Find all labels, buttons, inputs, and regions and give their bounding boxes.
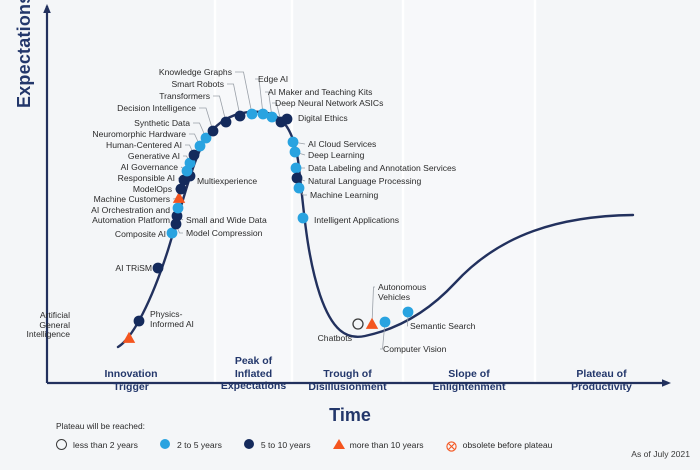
phase-label: Plateau ofProductivity bbox=[542, 368, 662, 393]
legend-item[interactable]: more than 10 years bbox=[333, 439, 424, 450]
technology-label: AI Maker and Teaching Kits bbox=[268, 88, 372, 98]
data-point-marker[interactable] bbox=[134, 316, 145, 327]
legend-item-label: 5 to 10 years bbox=[261, 440, 311, 450]
data-point-marker[interactable] bbox=[235, 111, 246, 122]
legend-item-label: less than 2 years bbox=[73, 440, 138, 450]
as-of-date: As of July 2021 bbox=[631, 449, 690, 459]
technology-label: Decision Intelligence bbox=[117, 104, 196, 114]
technology-label: AI TRiSM bbox=[115, 264, 152, 274]
open-circle-icon bbox=[56, 439, 67, 450]
technology-label: Machine Learning bbox=[310, 191, 378, 201]
data-point-marker[interactable] bbox=[380, 317, 391, 328]
phase-band bbox=[535, 0, 668, 383]
data-point-marker[interactable] bbox=[153, 263, 164, 274]
legend-item-label: more than 10 years bbox=[350, 440, 424, 450]
technology-label: Data Labeling and Annotation Services bbox=[308, 164, 456, 174]
data-point-marker[interactable] bbox=[298, 213, 309, 224]
technology-label: Generative AI bbox=[128, 152, 180, 162]
data-point-marker[interactable] bbox=[288, 137, 299, 148]
technology-label: Computer Vision bbox=[383, 345, 446, 355]
technology-label: AI Cloud Services bbox=[308, 140, 376, 150]
technology-label: Composite AI bbox=[115, 230, 166, 240]
technology-label: Multiexperience bbox=[197, 177, 257, 187]
phase-band bbox=[215, 0, 292, 383]
technology-label: Machine Customers bbox=[94, 195, 170, 205]
filled-circle-icon bbox=[160, 439, 171, 450]
data-point-marker[interactable] bbox=[291, 163, 302, 174]
technology-label: Knowledge Graphs bbox=[159, 68, 232, 78]
data-point-marker[interactable] bbox=[290, 147, 301, 158]
technology-label: Edge AI bbox=[258, 75, 288, 85]
data-point-marker[interactable] bbox=[353, 319, 363, 329]
y-axis-title: Expectations bbox=[14, 0, 35, 108]
data-point-marker[interactable] bbox=[282, 114, 293, 125]
data-point-marker[interactable] bbox=[403, 307, 414, 318]
phase-label: InnovationTrigger bbox=[71, 368, 191, 393]
technology-label: ModelOps bbox=[133, 185, 172, 195]
data-point-marker[interactable] bbox=[247, 109, 258, 120]
technology-label: Physics- Informed AI bbox=[150, 310, 194, 329]
technology-label: Responsible AI bbox=[118, 174, 175, 184]
data-point-marker[interactable] bbox=[292, 173, 303, 184]
data-point-marker[interactable] bbox=[189, 150, 200, 161]
technology-label: Digital Ethics bbox=[298, 114, 348, 124]
hype-cycle-chart: Artificial General IntelligencePhysics- … bbox=[0, 0, 700, 470]
technology-label: Chatbots bbox=[318, 334, 352, 344]
data-point-marker[interactable] bbox=[221, 117, 232, 128]
data-point-marker[interactable] bbox=[294, 183, 305, 194]
data-point-marker[interactable] bbox=[208, 126, 219, 137]
obsolete-icon bbox=[446, 439, 457, 450]
legend-item[interactable]: 5 to 10 years bbox=[244, 439, 311, 450]
legend-item-label: obsolete before plateau bbox=[463, 440, 553, 450]
data-point-marker[interactable] bbox=[173, 203, 184, 214]
technology-label: Intelligent Applications bbox=[314, 216, 399, 226]
technology-label: Neuromorphic Hardware bbox=[92, 130, 186, 140]
technology-label: Semantic Search bbox=[410, 322, 475, 332]
legend-item-label: 2 to 5 years bbox=[177, 440, 222, 450]
technology-label: Artificial General Intelligence bbox=[27, 311, 70, 340]
legend-item[interactable]: obsolete before plateau bbox=[446, 439, 553, 450]
technology-label: Natural Language Processing bbox=[308, 177, 421, 187]
technology-label: Deep Learning bbox=[308, 151, 364, 161]
technology-label: Model Compression bbox=[186, 229, 262, 239]
technology-label: Human-Centered AI bbox=[106, 141, 182, 151]
technology-label: Synthetic Data bbox=[134, 119, 190, 129]
chart-plot-area: Artificial General IntelligencePhysics- … bbox=[0, 0, 700, 470]
technology-label: Transformers bbox=[159, 92, 210, 102]
phase-label: Trough ofDisillusionment bbox=[288, 368, 408, 393]
filled-circle-icon bbox=[244, 439, 255, 450]
legend-items: less than 2 years2 to 5 years5 to 10 yea… bbox=[56, 439, 696, 450]
legend-title: Plateau will be reached: bbox=[56, 421, 696, 431]
technology-label: Smart Robots bbox=[171, 80, 224, 90]
technology-label: AI Orchestration and Automation Platform bbox=[91, 206, 170, 225]
technology-label: Small and Wide Data bbox=[186, 216, 267, 226]
chart-legend: Plateau will be reached: less than 2 yea… bbox=[56, 421, 696, 450]
chart-svg bbox=[0, 0, 700, 470]
legend-item[interactable]: 2 to 5 years bbox=[160, 439, 222, 450]
technology-label: Autonomous Vehicles bbox=[378, 283, 426, 302]
triangle-icon bbox=[333, 439, 344, 450]
legend-item[interactable]: less than 2 years bbox=[56, 439, 138, 450]
technology-label: AI Governance bbox=[121, 163, 178, 173]
technology-label: Deep Neural Network ASICs bbox=[275, 99, 383, 109]
phase-label: Slope ofEnlightenment bbox=[409, 368, 529, 393]
